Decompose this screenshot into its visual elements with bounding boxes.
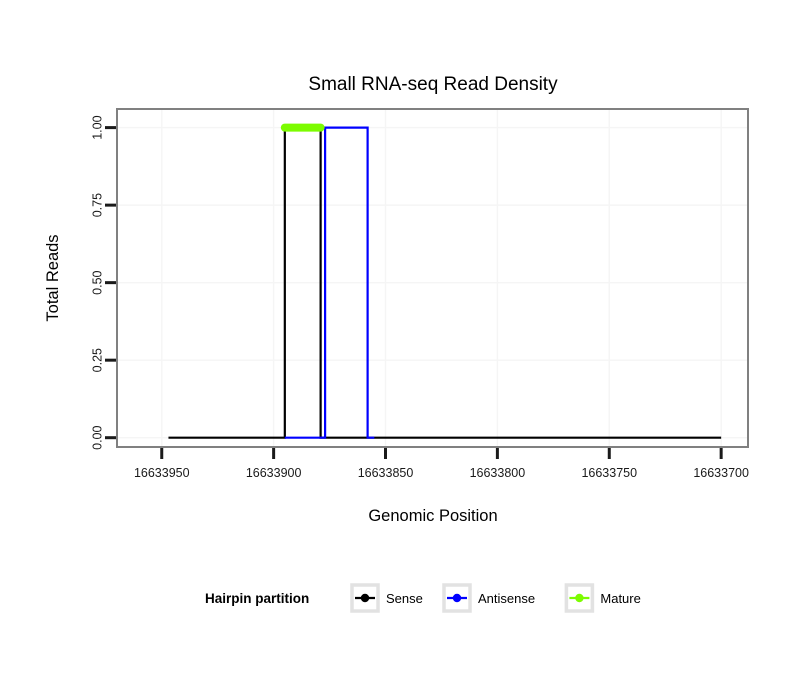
- x-tick-label: 16633750: [581, 466, 637, 480]
- x-tick-label: 16633900: [246, 466, 302, 480]
- y-tick-label: 0.50: [91, 270, 105, 294]
- x-tick-label: 16633800: [470, 466, 526, 480]
- x-axis-title: Genomic Position: [368, 507, 497, 525]
- chart-title: Small RNA-seq Read Density: [308, 74, 558, 95]
- legend-title: Hairpin partition: [205, 591, 309, 606]
- legend-item-label: Sense: [386, 591, 423, 606]
- y-axis-title: Total Reads: [44, 234, 62, 321]
- x-tick-label: 16633850: [358, 466, 414, 480]
- plot-panel-background: [117, 109, 748, 447]
- legend-item-label: Mature: [600, 591, 640, 606]
- legend-key-dot: [453, 594, 461, 602]
- x-tick-label: 16633700: [693, 466, 749, 480]
- legend-key-dot: [361, 594, 369, 602]
- legend-item-label: Antisense: [478, 591, 535, 606]
- legend-key-dot: [575, 594, 583, 602]
- y-tick-label: 0.75: [91, 193, 105, 217]
- x-tick-label: 16633950: [134, 466, 190, 480]
- y-tick-label: 0.00: [91, 425, 105, 449]
- y-tick-label: 1.00: [90, 115, 104, 139]
- chart-figure: Small RNA-seq Read Density Total Reads G…: [0, 0, 810, 690]
- y-tick-label: 0.25: [91, 348, 105, 372]
